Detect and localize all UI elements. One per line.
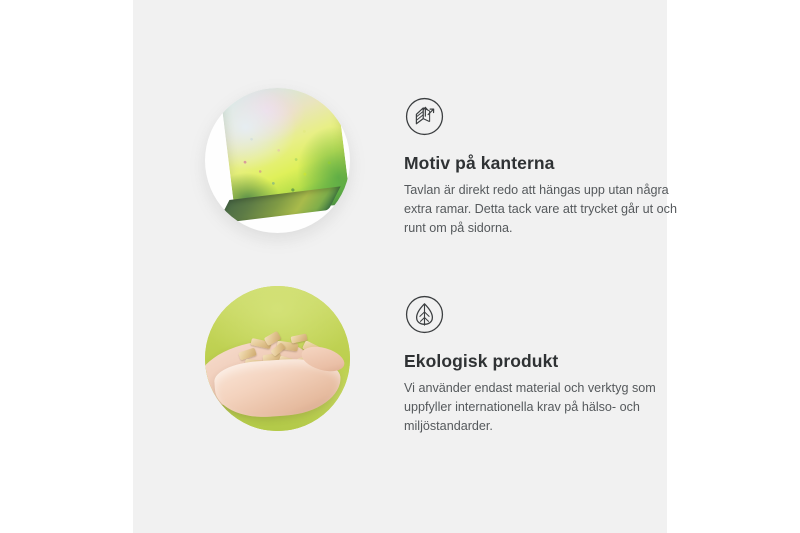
feature-text-block: Motiv på kanterna Tavlan är direkt redo … [404, 88, 682, 238]
canvas-print-illustration [227, 88, 350, 233]
feature-title: Ekologisk produkt [404, 351, 682, 372]
product-info-graphic: Motiv på kanterna Tavlan är direkt redo … [0, 0, 800, 533]
feature-description: Vi använder endast material och verktyg … [404, 379, 682, 436]
feature-block-edge-print: Motiv på kanterna Tavlan är direkt redo … [205, 88, 682, 238]
content-panel: Motiv på kanterna Tavlan är direkt redo … [133, 0, 667, 533]
hands-holding-wood-chips-photo [205, 286, 350, 431]
feature-text-block: Ekologisk produkt Vi använder endast mat… [404, 286, 682, 436]
canvas-print-corner-photo [205, 88, 350, 233]
canvas-edge-print-icon [404, 96, 445, 137]
feature-block-eco-product: Ekologisk produkt Vi använder endast mat… [205, 286, 682, 436]
feature-description: Tavlan är direkt redo att hängas upp uta… [404, 181, 682, 238]
leaf-icon [404, 294, 445, 335]
feature-title: Motiv på kanterna [404, 153, 682, 174]
